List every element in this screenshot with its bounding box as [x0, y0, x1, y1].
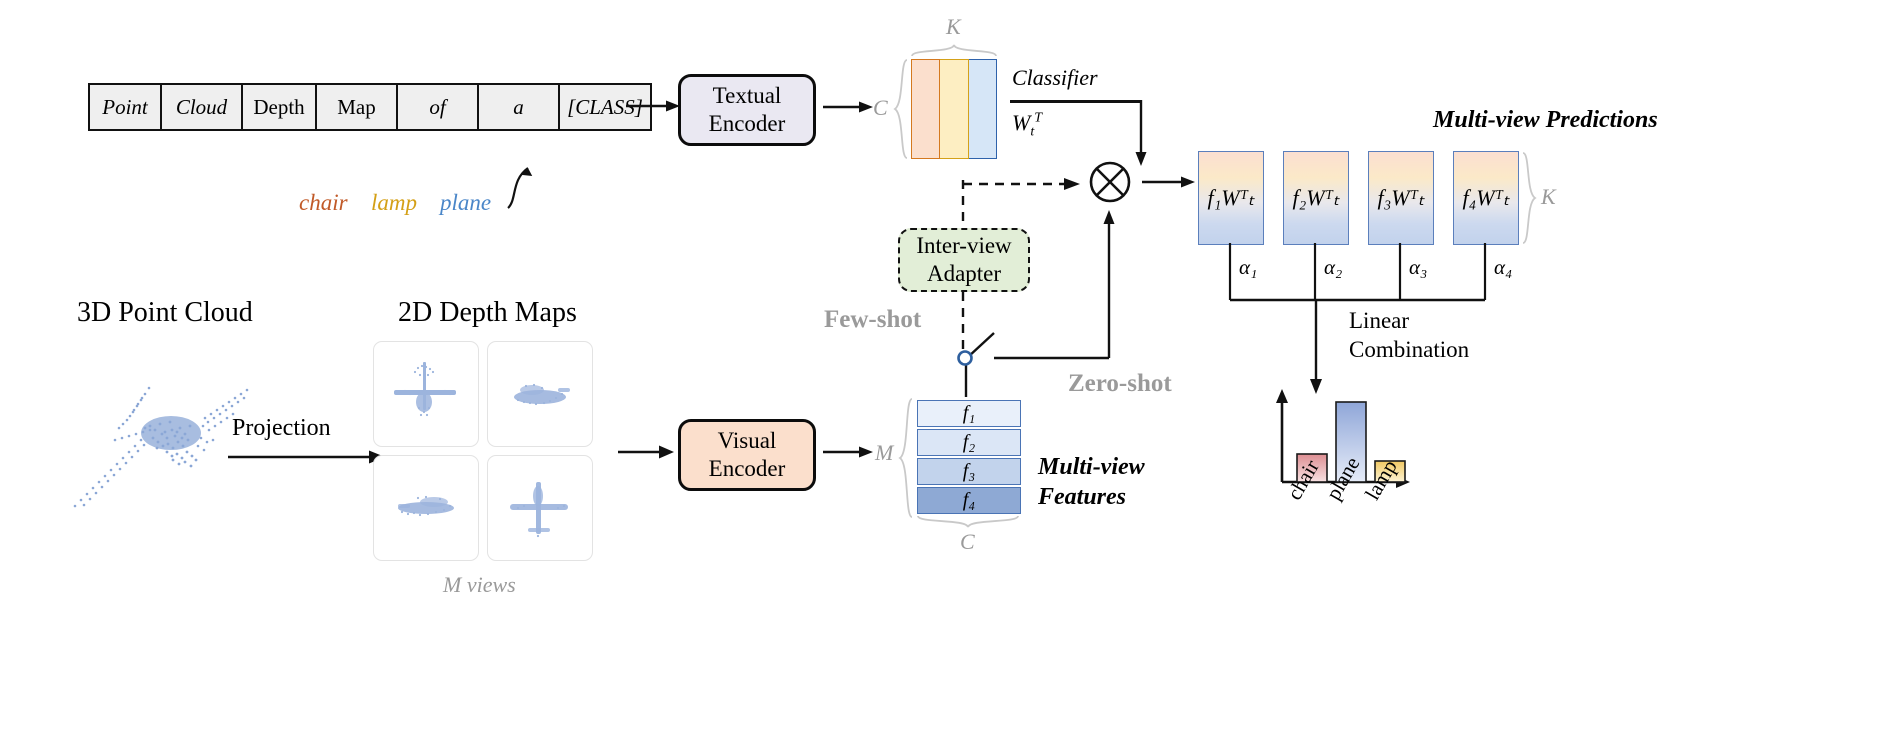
- inter-view-adapter-box[interactable]: Inter-view Adapter: [898, 228, 1030, 292]
- projection-label: Projection: [232, 415, 331, 442]
- weight-superscript: T: [1034, 111, 1042, 126]
- depth-map-thumb-4: [487, 455, 593, 561]
- alpha-label-2: α₂: [1324, 255, 1342, 280]
- class-word-lamp: lamp: [371, 190, 417, 216]
- feature-label: f₂: [963, 431, 976, 454]
- brace-C-left: [893, 59, 909, 159]
- classifier-weight-wt: WtT: [1012, 110, 1042, 140]
- feature-bar-f2: f₂: [917, 429, 1021, 456]
- prompt-token: Point: [90, 85, 162, 129]
- adapter-line1: Inter-view: [916, 232, 1011, 260]
- depth-map-thumb-2: [487, 341, 593, 447]
- prompt-token: of: [398, 85, 479, 129]
- prompt-token: Depth: [243, 85, 317, 129]
- weight-symbol: W: [1012, 110, 1030, 135]
- arrow-features-to-multiply: [1100, 206, 1120, 362]
- multiview-features-line1: Multi-view: [1038, 452, 1145, 482]
- linear-combination-label: Linear Combination: [1349, 307, 1469, 365]
- brace-K-right: [1521, 152, 1537, 244]
- prediction-box-2: f₂Wᵀₜ: [1283, 151, 1349, 245]
- prompt-token: Map: [317, 85, 398, 129]
- point-cloud-title: 3D Point Cloud: [77, 297, 253, 329]
- class-word-chair: chair: [299, 190, 348, 216]
- few-shot-label: Few-shot: [824, 306, 921, 334]
- arrow-prompt-to-text-encoder: [626, 96, 682, 116]
- brace-C-label: C: [873, 95, 888, 121]
- linear-combination-line1: Linear: [1349, 307, 1469, 336]
- class-word-plane: plane: [440, 190, 491, 216]
- prediction-box-3: f₃Wᵀₜ: [1368, 151, 1434, 245]
- depth-map-thumb-3: [373, 455, 479, 561]
- alpha-label-4: α₄: [1494, 255, 1512, 280]
- classifier-matrix: [911, 59, 997, 159]
- visual-encoder-box[interactable]: Visual Encoder: [678, 419, 816, 491]
- adapter-line2: Adapter: [927, 260, 1001, 288]
- weight-subscript: t: [1030, 124, 1034, 139]
- classifier-label: Classifier: [1012, 65, 1098, 91]
- prompt-token: Cloud: [162, 85, 243, 129]
- arrow-depthmaps-to-visual-encoder: [618, 442, 676, 462]
- feature-label: f₃: [963, 460, 976, 483]
- arrow-text-encoder-to-classifier: [823, 97, 875, 117]
- prediction-label: f₃Wᵀₜ: [1377, 185, 1424, 211]
- classifier-column-plane: [969, 59, 997, 159]
- visual-encoder-line1: Visual: [718, 427, 777, 455]
- prompt-token-table: Point Cloud Depth Map of a [CLASS]: [88, 83, 652, 131]
- multiview-features-label: Multi-view Features: [1038, 452, 1145, 512]
- depth-map-1-image: [374, 342, 478, 446]
- feature-label: f₄: [963, 489, 976, 512]
- visual-encoder-line2: Encoder: [709, 455, 786, 483]
- m-views-label: M views: [443, 572, 516, 598]
- brace-K-top: [911, 43, 997, 57]
- dashed-path-adapter-to-multiply: [960, 176, 1088, 196]
- prediction-box-4: f₄Wᵀₜ: [1453, 151, 1519, 245]
- arrow-classifier-to-multiply: [1132, 100, 1152, 168]
- brace-C-bottom-label: C: [960, 529, 975, 555]
- textual-encoder-box[interactable]: Textual Encoder: [678, 74, 816, 146]
- multiview-predictions-title: Multi-view Predictions: [1433, 107, 1658, 134]
- depth-map-2-image: [488, 342, 592, 446]
- alpha-label-1: α₁: [1239, 255, 1257, 280]
- prediction-label: f₁Wᵀₜ: [1207, 185, 1254, 211]
- feature-label: f₁: [963, 402, 976, 425]
- brace-K-right-label: K: [1541, 184, 1556, 210]
- arrow-projection: [228, 447, 388, 467]
- prompt-token: a: [479, 85, 560, 129]
- prediction-label: f₄Wᵀₜ: [1462, 185, 1509, 211]
- feature-bar-f1: f₁: [917, 400, 1021, 427]
- multiply-operator: [1087, 159, 1133, 205]
- depth-maps-title: 2D Depth Maps: [398, 297, 577, 329]
- prediction-label: f₂Wᵀₜ: [1292, 185, 1339, 211]
- class-to-token-arrow: [495, 140, 575, 210]
- brace-M-left: [898, 398, 914, 518]
- arrow-linear-combination: [1306, 300, 1328, 396]
- arrow-visual-encoder-to-features: [823, 442, 875, 462]
- brace-C-bottom: [917, 515, 1019, 529]
- figure-canvas: Point Cloud Depth Map of a [CLASS] chair…: [0, 0, 1882, 746]
- depth-map-3-image: [374, 456, 478, 560]
- prediction-box-1: f₁Wᵀₜ: [1198, 151, 1264, 245]
- classifier-column-chair: [911, 59, 940, 159]
- textual-encoder-line2: Encoder: [709, 110, 786, 138]
- depth-map-4-image: [488, 456, 592, 560]
- feature-bar-f4: f₄: [917, 487, 1021, 514]
- alpha-label-3: α₃: [1409, 255, 1427, 280]
- feature-bar-f3: f₃: [917, 458, 1021, 485]
- textual-encoder-line1: Textual: [713, 82, 782, 110]
- classifier-column-lamp: [940, 59, 969, 159]
- linear-combination-line2: Combination: [1349, 336, 1469, 365]
- classifier-fraction-rule: [1010, 100, 1142, 103]
- multiview-features-line2: Features: [1038, 482, 1145, 512]
- brace-M-label: M: [875, 440, 893, 466]
- arrow-multiply-to-predictions: [1142, 172, 1198, 192]
- brace-K-label: K: [946, 14, 961, 40]
- depth-map-thumb-1: [373, 341, 479, 447]
